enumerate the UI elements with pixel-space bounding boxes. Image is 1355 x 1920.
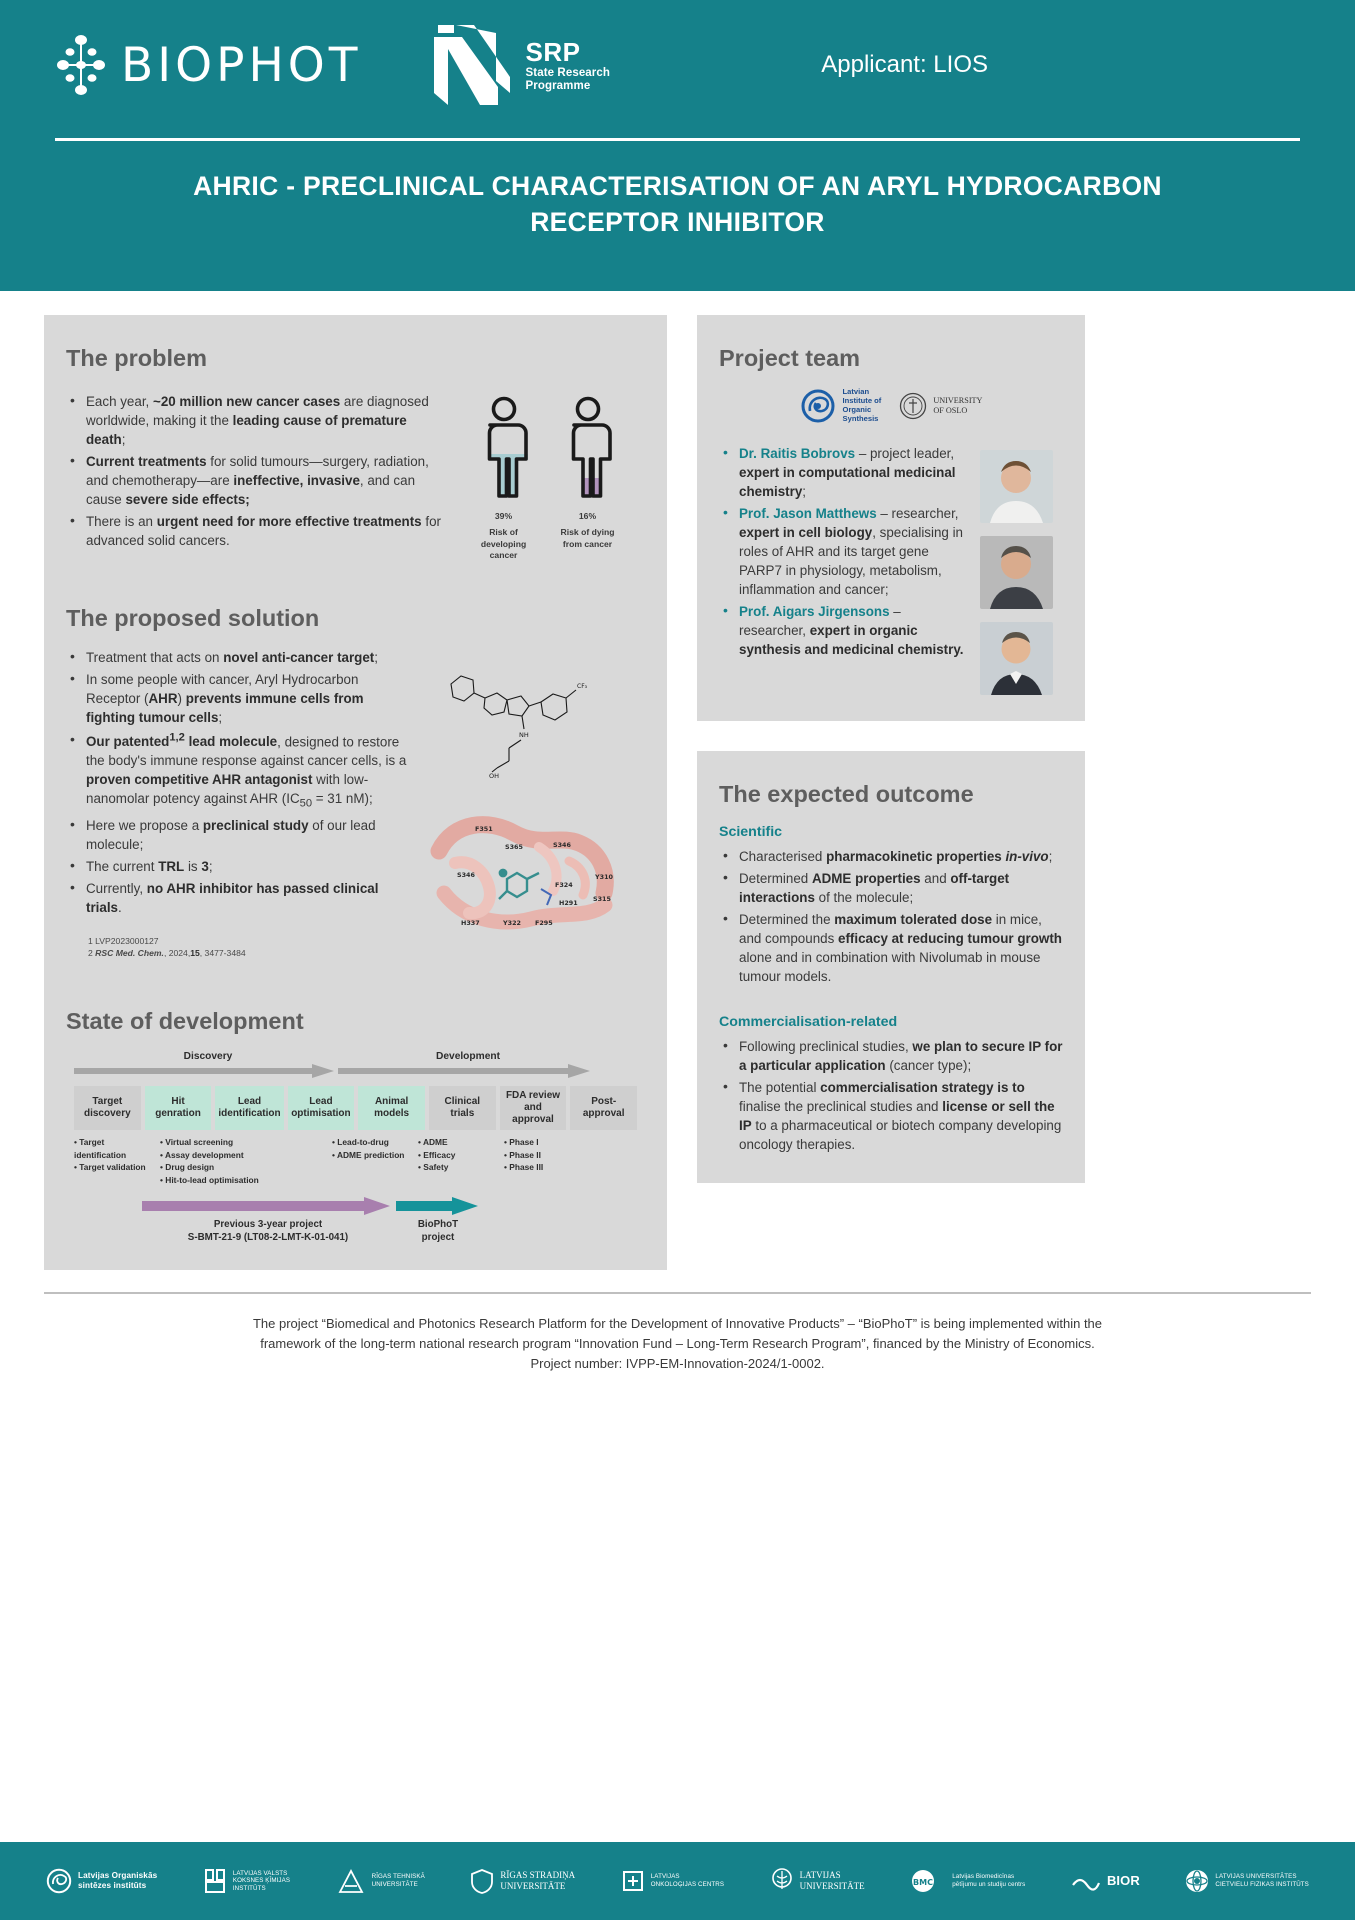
- partner-line2: pētījumu un studiju centrs: [952, 1881, 1025, 1889]
- biophot-logo: BIOPHOT: [55, 34, 362, 96]
- koksnes-mark-icon: [203, 1868, 227, 1894]
- bmc-badge-icon: BMC: [910, 1868, 946, 1894]
- svg-text:S365: S365: [505, 843, 523, 851]
- chemical-structure-icon: CF₃ NH OH: [433, 662, 613, 792]
- list-item: Prof. Aigars Jirgensons – researcher, ex…: [719, 602, 970, 659]
- risk-caption: Risk of dying from cancer: [552, 527, 624, 550]
- lios-emblem-icon: [46, 1868, 72, 1894]
- team-bullet-list: Dr. Raitis Bobrovs – project leader, exp…: [719, 444, 970, 659]
- lios-emblem-icon: [800, 389, 836, 423]
- protein-docking-figure: F351 S365 S346 F324 Y310 S346 H291 S315 …: [419, 801, 634, 951]
- partner-logo-rsu: RĪGAS STRADIŅA UNIVERSITĀTE: [470, 1868, 575, 1894]
- detail-group: Virtual screeningAssay developmentDrug d…: [160, 1136, 328, 1186]
- portrait-photo-3: [980, 622, 1053, 695]
- previous-project-line2: S-BMT-21-9 (LT08-2-LMT-K-01-041): [142, 1231, 394, 1244]
- lios-logo: Latvian Institute of Organic Synthesis: [800, 388, 882, 424]
- list-item: Determined ADME properties and off-targe…: [719, 869, 1063, 907]
- team-institution-logos: Latvian Institute of Organic Synthesis U…: [719, 388, 1063, 424]
- partner-line2: sintēzes institūts: [78, 1881, 157, 1891]
- list-item: In some people with cancer, Aryl Hydroca…: [66, 670, 413, 727]
- header-top-row: BIOPHOT SRP State Research Programme App…: [0, 0, 1355, 130]
- solution-bullet-list: Treatment that acts on novel anti-cancer…: [66, 648, 413, 916]
- member-name: Prof. Jason Matthews: [739, 506, 877, 521]
- svg-text:H291: H291: [559, 899, 578, 907]
- list-item: Following preclinical studies, we plan t…: [719, 1037, 1063, 1075]
- problem-section: The problem Each year, ~20 million new c…: [66, 345, 645, 561]
- list-item: Current treatments for solid tumours—sur…: [66, 452, 442, 509]
- development-title: State of development: [66, 1008, 645, 1035]
- oslo-line1: UNIVERSITY: [933, 396, 982, 406]
- list-item: Currently, no AHR inhibitor has passed c…: [66, 879, 413, 917]
- svg-text:S346: S346: [553, 841, 571, 849]
- risk-figure-dying: 16% Risk of dying from cancer: [552, 396, 624, 561]
- stage-details: Target identificationTarget validation V…: [74, 1136, 637, 1186]
- team-title: Project team: [719, 345, 1063, 372]
- svg-text:F351: F351: [475, 825, 493, 833]
- lios-logo-text: Latvian Institute of Organic Synthesis: [843, 388, 882, 424]
- lios-line4: Synthesis: [843, 415, 882, 424]
- outcome-title: The expected outcome: [719, 781, 1063, 808]
- partner-line1: RĪGAS TEHNISKĀ: [372, 1873, 425, 1881]
- svg-text:F324: F324: [555, 881, 573, 889]
- commercial-subheading: Commercialisation-related: [719, 1014, 1063, 1030]
- oslo-logo: UNIVERSITY OF OSLO: [899, 391, 982, 421]
- partner-line1: RĪGAS STRADIŅA: [500, 1870, 575, 1881]
- partner-logo-text: RĪGAS TEHNISKĀ UNIVERSITĀTE: [372, 1873, 425, 1888]
- list-item: Determined the maximum tolerated dose in…: [719, 910, 1063, 986]
- partner-logo-text: BIOR: [1107, 1873, 1140, 1889]
- list-item: The potential commercialisation strategy…: [719, 1078, 1063, 1154]
- avatar: [980, 536, 1053, 609]
- detail-group: Lead-to-drugADME prediction: [332, 1136, 414, 1186]
- svg-text:F295: F295: [535, 919, 553, 927]
- previous-project-label: Previous 3-year project S-BMT-21-9 (LT08…: [142, 1218, 394, 1244]
- stage-box: Lead optimisation: [288, 1086, 355, 1131]
- funding-line2: framework of the long-term national rese…: [100, 1334, 1255, 1354]
- svg-text:Y310: Y310: [594, 873, 614, 881]
- team-members-list: Dr. Raitis Bobrovs – project leader, exp…: [719, 444, 970, 695]
- oslo-seal-icon: [899, 391, 927, 421]
- partner-logo-cfi: LATVIJAS UNIVERSITĀTES CIETVIELU FIZIKAS…: [1185, 1868, 1308, 1894]
- svg-text:OH: OH: [489, 772, 499, 780]
- outcome-panel: The expected outcome Scientific Characte…: [697, 751, 1085, 1183]
- problem-bullet-list: Each year, ~20 million new cancer cases …: [66, 392, 442, 550]
- partner-logo-text: LATVIJAS UNIVERSITĀTES CIETVIELU FIZIKAS…: [1215, 1873, 1308, 1888]
- phase-label-discovery: Discovery: [74, 1051, 342, 1062]
- avatar: [980, 450, 1053, 523]
- stage-box: Animal models: [358, 1086, 425, 1131]
- biophot-project-line1: BioPhoT: [394, 1218, 482, 1231]
- partner-line2: UNIVERSITĀTE: [500, 1881, 575, 1892]
- team-photos: [980, 444, 1063, 695]
- scientific-bullet-list: Characterised pharmacokinetic properties…: [719, 847, 1063, 986]
- panel-spacer: [697, 721, 1085, 751]
- list-item: The current TRL is 3;: [66, 857, 413, 876]
- lu-tree-icon: [770, 1867, 794, 1895]
- reference-list: 1 LVP2023000127 2 RSC Med. Chem., 2024,1…: [66, 935, 413, 960]
- stage-box: FDA review and approval: [500, 1086, 567, 1131]
- oslo-logo-text: UNIVERSITY OF OSLO: [933, 396, 982, 416]
- partner-logo-bmc: BMC Latvijas Biomedicīnas pētījumu un st…: [910, 1868, 1025, 1894]
- svg-text:S346: S346: [457, 871, 475, 879]
- list-item: Dr. Raitis Bobrovs – project leader, exp…: [719, 444, 970, 501]
- partner-line2: CIETVIELU FIZIKAS INSTITŪTS: [1215, 1881, 1308, 1889]
- oslo-line2: OF OSLO: [933, 406, 982, 416]
- previous-project-line1: Previous 3-year project: [142, 1218, 394, 1231]
- partner-line1: LATVIJAS: [651, 1873, 724, 1881]
- person-icon: [558, 396, 618, 501]
- reference-item: 1 LVP2023000127: [88, 935, 413, 947]
- stage-box: Target discovery: [74, 1086, 141, 1131]
- project-timeline-arrows: [74, 1197, 637, 1215]
- development-pipeline: Discovery Development Target discovery H…: [66, 1051, 645, 1244]
- partner-line1: Latvijas Biomedicīnas: [952, 1873, 1025, 1881]
- list-item: Prof. Jason Matthews – researcher, exper…: [719, 504, 970, 599]
- partner-logo-bar: Latvijas Organiskās sintēzes institūts L…: [0, 1842, 1355, 1920]
- project-timeline-labels: Previous 3-year project S-BMT-21-9 (LT08…: [74, 1218, 637, 1244]
- member-name: Dr. Raitis Bobrovs: [739, 446, 855, 461]
- risk-percent: 16%: [552, 511, 624, 522]
- phase-label-development: Development: [342, 1051, 594, 1062]
- biophot-project-label: BioPhoT project: [394, 1218, 482, 1244]
- phase-arrows: [74, 1064, 637, 1078]
- list-item: Characterised pharmacokinetic properties…: [719, 847, 1063, 866]
- project-arrows-icon: [142, 1197, 482, 1215]
- svg-text:BMC: BMC: [913, 1878, 933, 1887]
- stage-boxes: Target discovery Hit genration Lead iden…: [74, 1086, 637, 1131]
- svg-text:H337: H337: [461, 919, 480, 927]
- partner-logo-bior: BIOR: [1071, 1869, 1140, 1893]
- partner-logo-text: RĪGAS STRADIŅA UNIVERSITĀTE: [500, 1870, 575, 1892]
- partner-line2: ONKOLOĢIJAS CENTRS: [651, 1881, 724, 1889]
- partner-logo-text: LATVIJAS ONKOLOĢIJAS CENTRS: [651, 1873, 724, 1888]
- commercial-bullet-list: Following preclinical studies, we plan t…: [719, 1037, 1063, 1154]
- partner-line1: LATVIJAS VALSTS: [233, 1870, 290, 1878]
- list-item: There is an urgent need for more effecti…: [66, 512, 442, 550]
- poster-header: BIOPHOT SRP State Research Programme App…: [0, 0, 1355, 291]
- cancer-risk-figure: 39% Risk of developing cancer: [446, 388, 645, 561]
- oncology-centre-icon: [621, 1868, 645, 1894]
- partner-logo-text: Latvijas Biomedicīnas pētījumu un studij…: [952, 1873, 1025, 1888]
- partner-logo-text: Latvijas Organiskās sintēzes institūts: [78, 1871, 157, 1891]
- team-panel: Project team Latvian Institute of Organi…: [697, 315, 1085, 721]
- risk-figure-developing: 39% Risk of developing cancer: [468, 396, 540, 561]
- poster-body: The problem Each year, ~20 million new c…: [0, 291, 1355, 1270]
- applicant-label: Applicant: LIOS: [821, 51, 1300, 79]
- srp-text-block: SRP State Research Programme: [526, 38, 611, 93]
- partner-line3: INSTITŪTS: [233, 1885, 290, 1893]
- cfi-atom-icon: [1185, 1868, 1209, 1894]
- phase-headers: Discovery Development: [74, 1051, 637, 1062]
- detail-group: ADMEEfficacySafety: [418, 1136, 500, 1186]
- person-icon: [474, 396, 534, 501]
- partner-line2: UNIVERSITĀTE: [372, 1881, 425, 1889]
- portrait-photo-2: [980, 536, 1053, 609]
- list-item: Each year, ~20 million new cancer cases …: [66, 392, 442, 449]
- list-item: Our patented1,2 lead molecule, designed …: [66, 731, 413, 813]
- partner-logo-lios: Latvijas Organiskās sintēzes institūts: [46, 1868, 157, 1894]
- partner-logo-lu: LATVIJAS UNIVERSITĀTE: [770, 1867, 865, 1895]
- portrait-photo-1: [980, 450, 1053, 523]
- srp-title: SRP: [526, 38, 611, 67]
- left-column: The problem Each year, ~20 million new c…: [44, 315, 667, 1270]
- svg-text:Y322: Y322: [502, 919, 521, 927]
- partner-line2: UNIVERSITĀTE: [800, 1881, 865, 1892]
- partner-line1: LATVIJAS UNIVERSITĀTES: [1215, 1873, 1308, 1881]
- svg-text:NH: NH: [519, 731, 529, 739]
- partner-line2: KOKSNES ĶĪMIJAS: [233, 1877, 290, 1885]
- solution-title: The proposed solution: [66, 605, 645, 632]
- stage-box: Post-approval: [570, 1086, 637, 1131]
- list-item: Here we propose a preclinical study of o…: [66, 816, 413, 854]
- srp-subtitle-line2: Programme: [526, 80, 611, 93]
- partner-logo-onkologijas: LATVIJAS ONKOLOĢIJAS CENTRS: [621, 1868, 724, 1894]
- funding-line3: Project number: IVPP-EM-Innovation-2024/…: [100, 1354, 1255, 1374]
- biophot-molecule-icon: [55, 34, 107, 96]
- list-item: Treatment that acts on novel anti-cancer…: [66, 648, 413, 667]
- detail-group: Phase IPhase IIPhase III: [504, 1136, 586, 1186]
- srp-subtitle-line1: State Research: [526, 67, 611, 80]
- stage-box: Lead identification: [215, 1086, 283, 1131]
- stage-box: Hit genration: [145, 1086, 212, 1131]
- funding-statement: The project “Biomedical and Photonics Re…: [0, 1294, 1355, 1374]
- problem-text: Each year, ~20 million new cancer cases …: [66, 388, 442, 561]
- risk-percent: 39%: [468, 511, 540, 522]
- partner-logo-text: LATVIJAS VALSTS KOKSNES ĶĪMIJAS INSTITŪT…: [233, 1870, 290, 1893]
- reference-item: 2 RSC Med. Chem., 2024,15, 3477-3484: [88, 947, 413, 959]
- stage-box: Clinical trials: [429, 1086, 496, 1131]
- partner-logo-rtu: RĪGAS TEHNISKĀ UNIVERSITĀTE: [336, 1868, 425, 1894]
- development-section: State of development Discovery Developme…: [66, 1008, 645, 1244]
- rsu-shield-icon: [470, 1868, 494, 1894]
- partner-logo-text: LATVIJAS UNIVERSITĀTE: [800, 1870, 865, 1892]
- problem-title: The problem: [66, 345, 645, 372]
- poster-title: AHRIC - PRECLINICAL CHARACTERISATION OF …: [0, 141, 1355, 241]
- molecule-and-protein-figures: CF₃ NH OH: [419, 648, 645, 959]
- risk-caption: Risk of developing cancer: [468, 527, 540, 561]
- partner-logo-koksnes: LATVIJAS VALSTS KOKSNES ĶĪMIJAS INSTITŪT…: [203, 1868, 290, 1894]
- solution-text: Treatment that acts on novel anti-cancer…: [66, 648, 413, 959]
- bior-wave-icon: [1071, 1869, 1101, 1893]
- avatar: [980, 622, 1053, 695]
- discovery-development-arrows-icon: [74, 1064, 594, 1078]
- right-column: Project team Latvian Institute of Organi…: [697, 315, 1085, 1183]
- solution-section: The proposed solution Treatment that act…: [66, 605, 645, 959]
- rtu-mark-icon: [336, 1868, 366, 1894]
- scientific-subheading: Scientific: [719, 824, 1063, 840]
- svg-text:S315: S315: [593, 895, 611, 903]
- funding-line1: The project “Biomedical and Photonics Re…: [100, 1314, 1255, 1334]
- detail-group: Target identificationTarget validation: [74, 1136, 156, 1186]
- member-name: Prof. Aigars Jirgensons: [739, 604, 890, 619]
- svg-text:CF₃: CF₃: [577, 683, 588, 690]
- biophot-project-line2: project: [394, 1231, 482, 1244]
- srp-n-icon: [428, 25, 514, 105]
- srp-logo: SRP State Research Programme: [428, 25, 611, 105]
- partner-line1: Latvijas Organiskās: [78, 1871, 157, 1881]
- biophot-wordmark: BIOPHOT: [121, 38, 362, 93]
- left-panel: The problem Each year, ~20 million new c…: [44, 315, 667, 1270]
- partner-line1: LATVIJAS: [800, 1870, 865, 1881]
